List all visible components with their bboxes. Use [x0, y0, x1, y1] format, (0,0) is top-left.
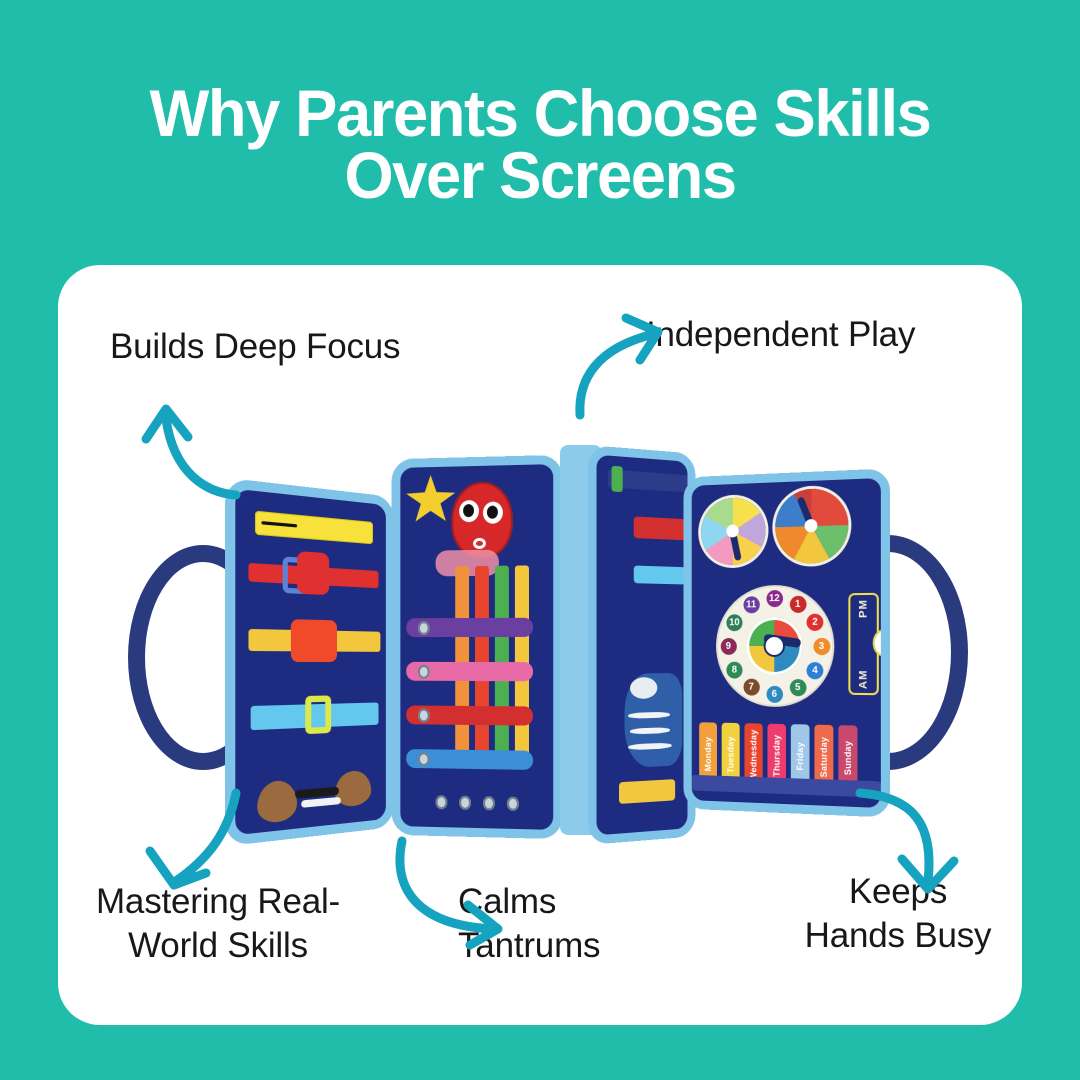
curved-arrow-down-icon [848, 785, 968, 905]
content-card: 121234567891011 PM AM MondayTuesdayWedne… [58, 265, 1022, 1025]
felt-octopus-icon [451, 481, 513, 558]
velcro-lacing-panel [392, 455, 563, 839]
grommet-5 [436, 795, 448, 809]
clock-hour-2: 2 [807, 613, 824, 630]
grommet-8 [507, 797, 519, 811]
red-velcro-tab [634, 516, 686, 540]
shoe-tying-panel [588, 445, 695, 845]
teaching-clock[interactable]: 121234567891011 [718, 586, 832, 705]
am-label: AM [857, 669, 869, 689]
grommet-7 [483, 796, 495, 810]
callout-independent-play: Independent Play [646, 313, 1006, 357]
page-title-line-2: Over Screens [22, 144, 1059, 206]
clock-hour-12: 12 [766, 590, 782, 607]
learning-clock-panel: 121234567891011 PM AM MondayTuesdayWedne… [683, 468, 890, 817]
green-tab [612, 466, 623, 492]
clock-hour-7: 7 [743, 679, 759, 696]
grommet-2 [418, 665, 430, 679]
sneaker-lace-1 [628, 712, 670, 719]
octopus-eye-right [483, 501, 503, 523]
emotions-spinner[interactable] [701, 497, 766, 566]
side-release-clip-part [291, 619, 337, 662]
fastener-practice-panel [225, 478, 394, 847]
callout-builds-deep-focus: Builds Deep Focus [110, 325, 470, 369]
sneaker-toe [630, 677, 657, 699]
sneaker-lacing-part [625, 673, 683, 768]
weather-seasons-spinner[interactable] [775, 487, 848, 564]
clock-hour-3: 3 [813, 637, 830, 654]
grommet-4 [418, 752, 430, 766]
curved-arrow-up-right-icon [568, 310, 678, 420]
ampm-slider-knob[interactable] [875, 632, 890, 655]
curved-arrow-down-left-icon [128, 785, 248, 905]
blue-strap-tab [634, 566, 686, 585]
curved-arrow-up-left-icon [136, 383, 246, 503]
white-shoelace-part [301, 797, 341, 808]
page-title-line-1: Why Parents Choose Skills [22, 82, 1059, 144]
lace-heart-left [257, 779, 297, 824]
belt-tongue-part [297, 551, 329, 595]
clock-hour-1: 1 [789, 596, 806, 613]
clock-hour-9: 9 [720, 638, 736, 655]
curved-arrow-down-right-icon [388, 825, 518, 950]
clock-hour-6: 6 [766, 685, 782, 702]
grommet-1 [418, 621, 430, 635]
clock-hour-8: 8 [726, 661, 742, 678]
octopus-eye-left [459, 500, 479, 522]
clock-hour-10: 10 [726, 614, 742, 631]
clock-hub [766, 637, 783, 655]
sneaker-lace-3 [628, 743, 671, 751]
slide-buckle-part [305, 695, 331, 734]
pm-label: PM [857, 599, 869, 618]
grommet-6 [459, 796, 471, 810]
clock-hour-5: 5 [789, 679, 806, 696]
zipper-part [255, 511, 373, 545]
yellow-strap-part [619, 779, 675, 804]
clock-hour-4: 4 [807, 662, 824, 679]
grommet-3 [418, 709, 430, 723]
felt-star-icon [406, 474, 455, 523]
clock-hour-11: 11 [743, 596, 759, 613]
page-title: Why Parents Choose Skills Over Screens [22, 82, 1059, 206]
days-of-week-row: MondayTuesdayWednesdayThursdayFridaySatu… [692, 478, 881, 486]
sneaker-lace-2 [630, 727, 670, 734]
